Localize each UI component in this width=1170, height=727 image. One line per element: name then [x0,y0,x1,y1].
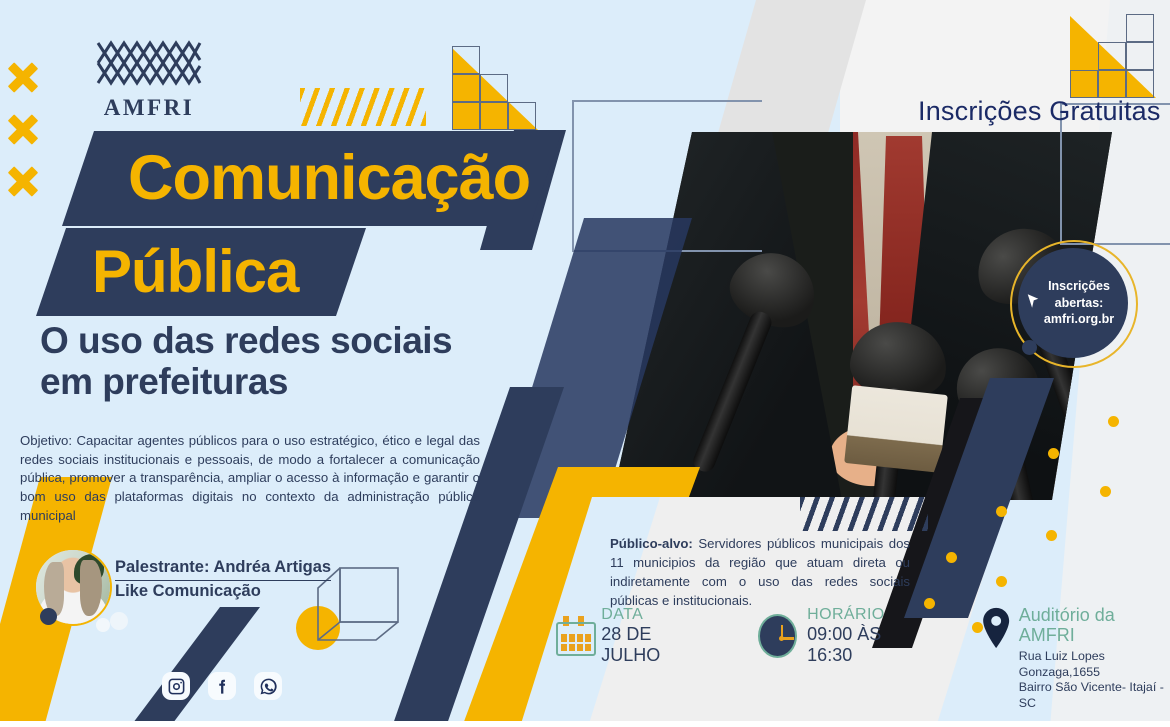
page-subtitle-line1: O uso das redes sociais [40,320,560,361]
navy-hatch-decoration [800,497,928,531]
page-subtitle: O uso das redes sociais em prefeituras [40,320,560,403]
time-value: 09:00 ÀS 16:30 [807,624,916,666]
whatsapp-icon[interactable] [254,672,282,700]
amfri-logo-text: AMFRI [96,95,202,121]
event-info-row: DATA 28 DE JULHO HORÁRIO 09:00 ÀS 16:30 … [556,606,1170,711]
location-pin-icon [982,606,1010,650]
lattice-icon [96,38,202,88]
amfri-logo: AMFRI [96,38,202,122]
facebook-icon[interactable] [208,672,236,700]
free-registration-text: Inscrições Gratuitas [918,96,1161,127]
page-title-line2: Pública [36,242,298,302]
badge-line2: abertas: [1044,295,1114,312]
staircase-graphic [452,48,538,130]
instagram-icon[interactable] [162,672,190,700]
poster-canvas: AMFRI Comunicação Pública O uso das rede… [0,0,1170,727]
title-band-secondary: Pública [36,228,366,316]
staircase-graphic-right [1070,16,1156,98]
navy-dot-decoration [1022,340,1037,355]
navy-dot-decoration [40,608,57,625]
microphone-label [844,385,948,473]
date-value: 28 DE JULHO [601,624,702,666]
calendar-icon [556,616,591,656]
location-address-line2: Bairro São Vicente- Itajaí - SC [1019,680,1170,711]
audience-text: Público-alvo: Servidores públicos munici… [610,534,910,611]
location-title: Auditório da AMFRI [1019,606,1170,646]
objective-text: Objetivo: Capacitar agentes públicos par… [20,432,480,526]
clock-icon [758,614,797,658]
page-subtitle-line2: em prefeituras [40,361,560,402]
audience-label: Público-alvo: [610,536,693,551]
x-mark-icon [8,166,38,196]
time-label: HORÁRIO [807,606,916,624]
event-date-block: DATA 28 DE JULHO [556,606,702,666]
bottom-strip [0,721,1170,727]
event-location-block: Auditório da AMFRI Rua Luiz Lopes Gonzag… [982,606,1170,711]
speaker-company: Like Comunicação [115,582,261,601]
x-mark-icon [8,114,38,144]
yellow-hatch-decoration [300,88,426,126]
badge-line3: amfri.org.br [1044,311,1114,328]
white-dot-decoration [110,612,128,630]
date-label: DATA [601,606,702,624]
badge-line1: Inscrições [1044,278,1114,295]
cursor-arrow-icon [1024,292,1042,310]
speaker-name: Palestrante: Andréa Artigas [115,558,331,581]
location-address-line1: Rua Luiz Lopes Gonzaga,1655 [1019,649,1170,680]
social-links [162,672,282,700]
x-mark-icon [8,62,38,92]
page-title-line1: Comunicação [62,147,530,210]
event-time-block: HORÁRIO 09:00 ÀS 16:30 [758,606,916,666]
title-band-primary: Comunicação [62,131,562,226]
white-dot-decoration [96,618,110,632]
